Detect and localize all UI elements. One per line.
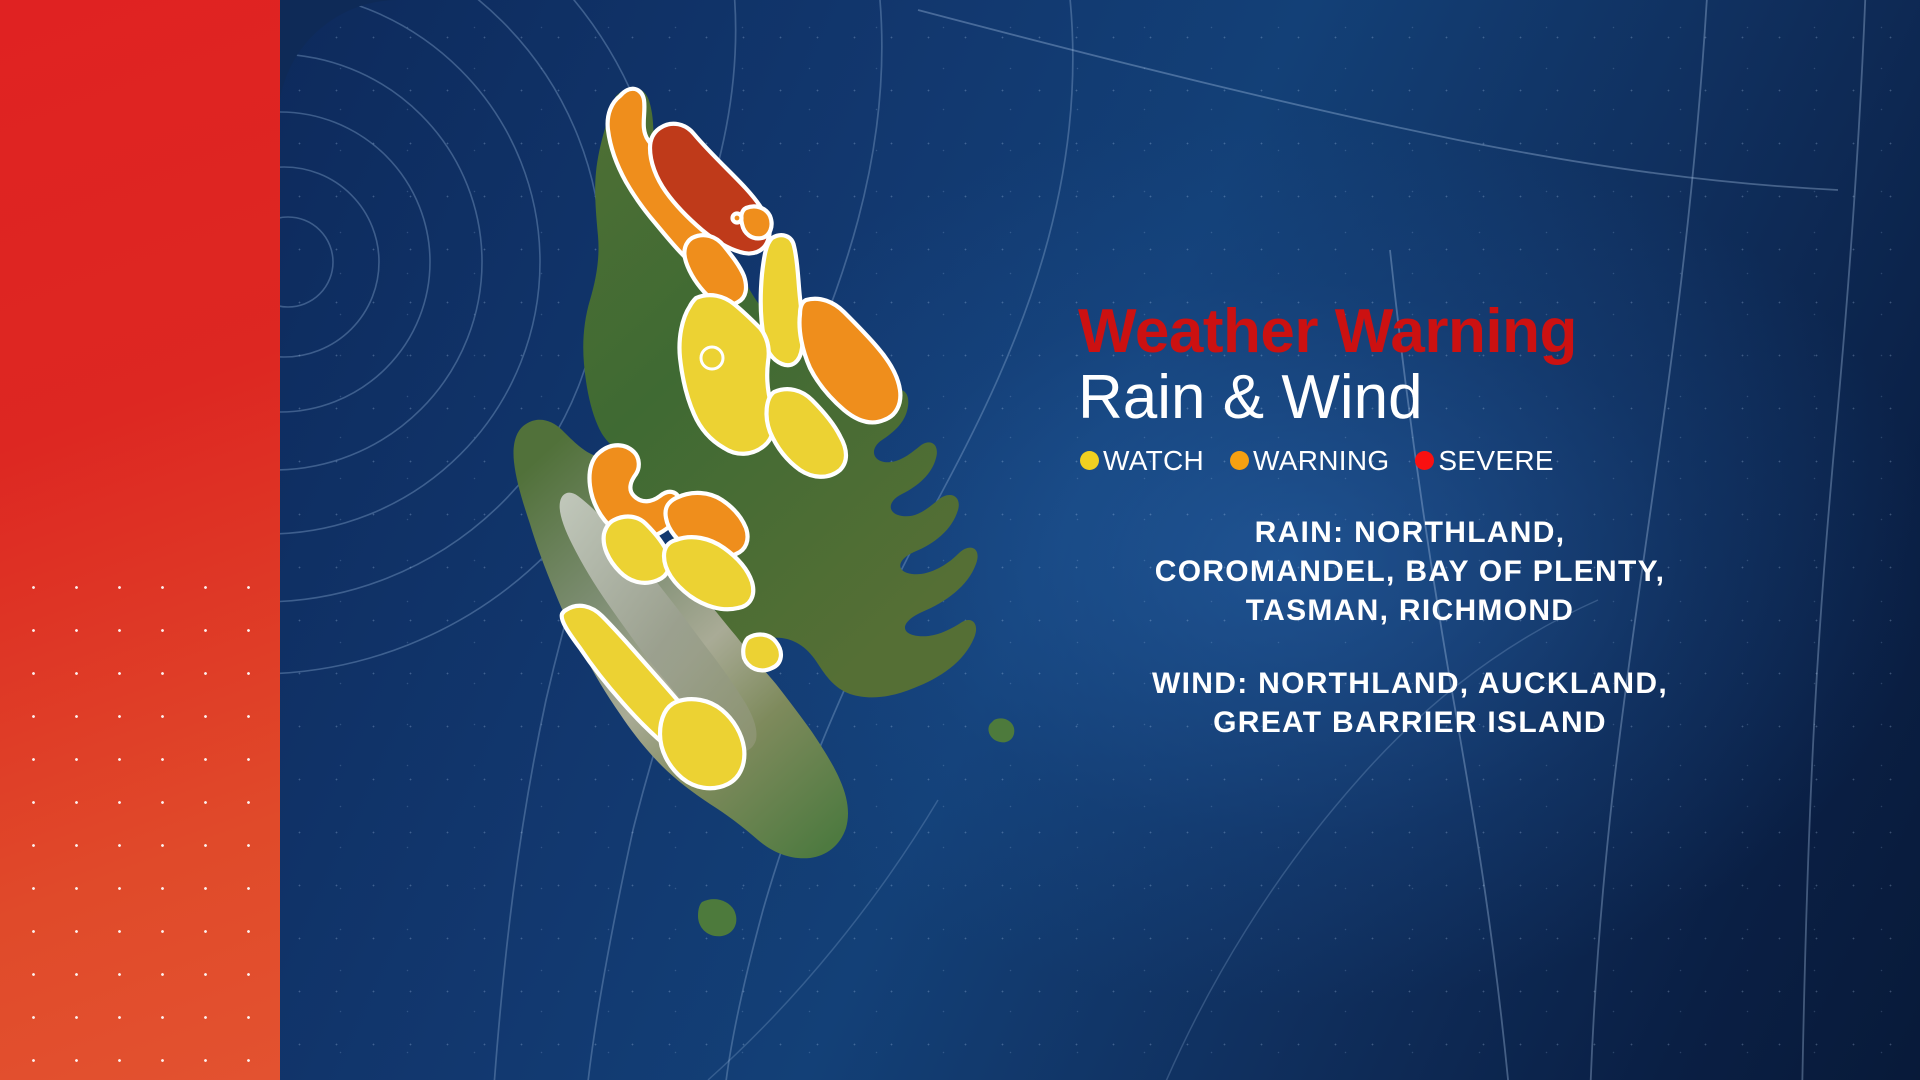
wind-warning-details: WIND: NORTHLAND, AUCKLAND, GREAT BARRIER… bbox=[1060, 664, 1760, 742]
weather-warning-graphic: Weather Warning Rain & Wind WATCH WARNIN… bbox=[0, 0, 1920, 1080]
circle-dot-icon bbox=[1080, 451, 1099, 470]
dot-grid-pattern bbox=[0, 560, 280, 1080]
rain-detail-line: TASMAN, RICHMOND bbox=[1060, 591, 1760, 630]
left-accent-panel bbox=[0, 0, 280, 1080]
circle-dot-icon bbox=[1230, 451, 1249, 470]
rain-detail-line: COROMANDEL, BAY OF PLENTY, bbox=[1060, 552, 1760, 591]
rain-warning-details: RAIN: NORTHLAND, COROMANDEL, BAY OF PLEN… bbox=[1060, 513, 1760, 630]
legend-label-warning: WARNING bbox=[1253, 447, 1389, 475]
wind-detail-line: WIND: NORTHLAND, AUCKLAND, bbox=[1060, 664, 1760, 703]
legend-label-severe: SEVERE bbox=[1438, 447, 1553, 475]
page-subtitle: Rain & Wind bbox=[1060, 366, 1760, 430]
wind-detail-line: GREAT BARRIER ISLAND bbox=[1060, 703, 1760, 742]
legend-item-severe: SEVERE bbox=[1415, 447, 1553, 475]
warning-info-panel: Weather Warning Rain & Wind WATCH WARNIN… bbox=[1060, 300, 1760, 776]
rain-detail-line: RAIN: NORTHLAND, bbox=[1060, 513, 1760, 552]
legend-item-watch: WATCH bbox=[1080, 447, 1204, 475]
legend-label-watch: WATCH bbox=[1103, 447, 1204, 475]
page-title: Weather Warning bbox=[1060, 300, 1760, 364]
circle-dot-icon bbox=[1415, 451, 1434, 470]
legend-item-warning: WARNING bbox=[1230, 447, 1389, 475]
severity-legend: WATCH WARNING SEVERE bbox=[1060, 447, 1760, 475]
